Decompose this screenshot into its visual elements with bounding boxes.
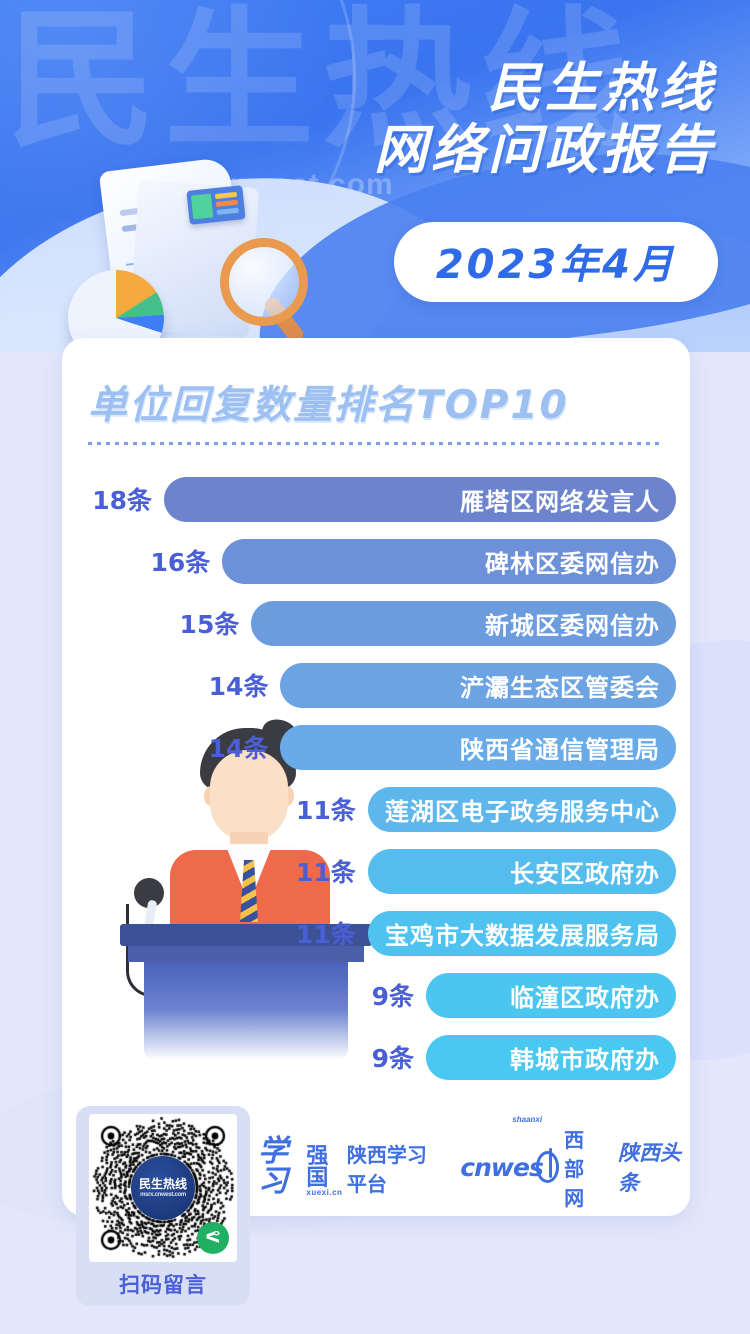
cnwest-wordmark: cnwes xyxy=(460,1153,543,1182)
date-badge: 2023年4月 xyxy=(394,222,718,302)
chart-value-label: 11条 xyxy=(296,853,356,889)
chart-value-label: 9条 xyxy=(372,977,414,1013)
date-badge-label: 2023年4月 xyxy=(436,242,676,288)
qr-logo-text: 民生热线 xyxy=(139,1178,187,1190)
chart-value-label: 16条 xyxy=(150,543,210,579)
chart-bar-label: 长安区政府办 xyxy=(510,854,660,889)
chart-bar: 临潼区政府办 xyxy=(426,973,676,1018)
logo-xuexi-qiangguo[interactable]: 学习 强国 xuexi.cn 陕西学习平台 xyxy=(258,1137,446,1197)
magnifier-icon xyxy=(220,238,308,326)
chart-bar: 雁塔区网络发言人 xyxy=(164,477,676,522)
chart-bar-label: 韩城市政府办 xyxy=(510,1040,660,1075)
chart-value-label: 9条 xyxy=(372,1039,414,1075)
chart-value-label: 15条 xyxy=(180,605,240,641)
book-page-yellow xyxy=(215,192,237,199)
chart-row: 14条陕西省通信管理局 xyxy=(62,716,690,778)
logo-cnwest[interactable]: cnwes shaanxi 西部网 xyxy=(460,1124,604,1211)
xuexi-cursive-text: 学习 xyxy=(258,1137,304,1197)
chart-row: 18条雁塔区网络发言人 xyxy=(62,468,690,530)
cnwest-ring-icon xyxy=(536,1151,559,1183)
chart-row: 16条碑林区委网信办 xyxy=(62,530,690,592)
qr-code-label: 扫码留言 xyxy=(119,1269,207,1299)
poster-header: 民生热线 m.cnwest.com xyxy=(0,0,750,352)
cnwest-pinyin: shaanxi xyxy=(512,1115,542,1124)
xuexi-url-text: xuexi.cn xyxy=(306,1189,342,1197)
chart-bar-label: 雁塔区网络发言人 xyxy=(460,482,660,517)
qr-center-logo: 民生热线 msrx.cnwest.com xyxy=(131,1156,195,1220)
book-icon xyxy=(186,185,245,225)
book-page-blue xyxy=(217,208,239,215)
chart-value-label: 18条 xyxy=(92,481,152,517)
xuexi-strong-text: 强国 xyxy=(306,1145,342,1189)
qr-code-image[interactable]: 民生热线 msrx.cnwest.com ᕙ xyxy=(89,1114,237,1262)
chart-bar-label: 莲湖区电子政务服务中心 xyxy=(385,792,660,827)
qr-code-card[interactable]: 民生热线 msrx.cnwest.com ᕙ 扫码留言 xyxy=(76,1106,250,1306)
chart-bar: 宝鸡市大数据发展服务局 xyxy=(368,911,676,956)
chart-row: 14条浐灞生态区管委会 xyxy=(62,654,690,716)
qr-logo-url: msrx.cnwest.com xyxy=(140,1192,186,1198)
chart-row: 11条莲湖区电子政务服务中心 xyxy=(62,778,690,840)
ranking-bar-chart: 18条雁塔区网络发言人16条碑林区委网信办15条新城区委网信办14条浐灞生态区管… xyxy=(62,468,690,1088)
chart-bar-label: 陕西省通信管理局 xyxy=(460,730,660,765)
poster-root: 民生热线 m.cnwest.com xyxy=(0,0,750,1334)
chart-row: 11条长安区政府办 xyxy=(62,840,690,902)
header-illustration xyxy=(70,160,360,352)
chart-row: 11条宝鸡市大数据发展服务局 xyxy=(62,902,690,964)
chart-value-label: 11条 xyxy=(296,791,356,827)
wechat-miniprogram-icon: ᕙ xyxy=(197,1222,229,1254)
chart-bar-label: 临潼区政府办 xyxy=(510,978,660,1013)
chart-bar: 新城区委网信办 xyxy=(251,601,676,646)
chart-bar-label: 浐灞生态区管委会 xyxy=(460,668,660,703)
chart-bar: 碑林区委网信办 xyxy=(222,539,676,584)
chart-bar: 莲湖区电子政务服务中心 xyxy=(368,787,676,832)
section-title: 单位回复数量排名TOP10 xyxy=(88,374,569,430)
dotted-divider xyxy=(88,442,664,445)
xuexi-platform-text: 陕西学习平台 xyxy=(347,1139,446,1197)
chart-bar: 浐灞生态区管委会 xyxy=(280,663,676,708)
chart-bar-label: 碑林区委网信办 xyxy=(485,544,660,579)
cnwest-chinese-name: 西部网 xyxy=(564,1124,604,1211)
logo-shaanxi-toutiao[interactable]: 陕西头条 xyxy=(618,1137,688,1197)
chart-bar: 陕西省通信管理局 xyxy=(280,725,676,770)
chart-value-label: 11条 xyxy=(296,915,356,951)
footer-logos: 学习 强国 xuexi.cn 陕西学习平台 cnwes shaanxi 西部网 … xyxy=(258,1140,688,1194)
chart-bar: 长安区政府办 xyxy=(368,849,676,894)
poster-title: 民生热线 网络问政报告 xyxy=(374,58,716,182)
title-line-2: 网络问政报告 xyxy=(374,120,716,182)
chart-bar-label: 宝鸡市大数据发展服务局 xyxy=(385,916,660,951)
book-page-green xyxy=(191,193,213,219)
book-page-orange xyxy=(216,200,238,207)
chart-row: 9条韩城市政府办 xyxy=(62,1026,690,1088)
ranking-card: 单位回复数量排名TOP10 18条雁塔区网络发言人16条碑林区委网信办15条新城… xyxy=(62,338,690,1216)
chart-row: 15条新城区委网信办 xyxy=(62,592,690,654)
chart-row: 9条临潼区政府办 xyxy=(62,964,690,1026)
chart-bar-label: 新城区委网信办 xyxy=(485,606,660,641)
chart-bar: 韩城市政府办 xyxy=(426,1035,676,1080)
chart-value-label: 14条 xyxy=(209,729,269,765)
title-line-1: 民生热线 xyxy=(374,58,716,120)
chart-value-label: 14条 xyxy=(209,667,269,703)
